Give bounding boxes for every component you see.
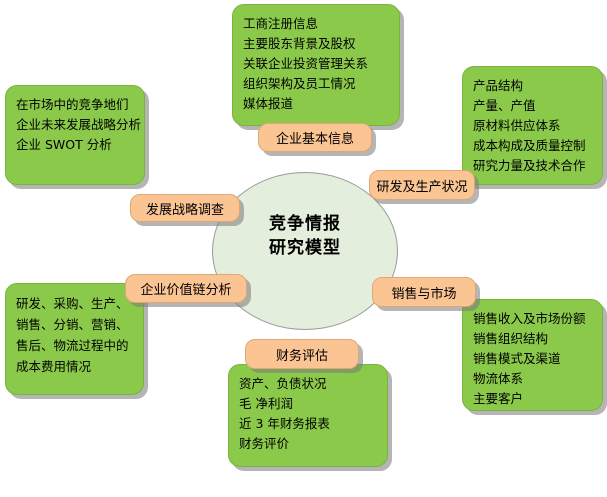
detail-item: 产品结构 — [473, 76, 592, 96]
detail-item: 销售收入及市场份额 — [473, 309, 592, 329]
detail-box-finance: 资产、负债状况 毛 净利润 近 3 年财务报表 财务评价 — [228, 364, 388, 467]
detail-item: 原材料供应体系 — [473, 116, 592, 136]
label-text: 销售与市场 — [391, 283, 456, 302]
detail-item: 在市场中的竞争地们 — [16, 95, 134, 115]
label-text: 研发及生产状况 — [376, 176, 467, 195]
detail-box-sales-market: 销售收入及市场份额 销售组织结构 销售模式及渠道 物流体系 主要客户 — [462, 299, 603, 411]
detail-item: 近 3 年财务报表 — [239, 414, 377, 434]
detail-item: 工商注册信息 — [243, 14, 389, 34]
label-text: 企业基本信息 — [276, 128, 354, 147]
detail-item: 销售模式及渠道 — [473, 349, 592, 369]
label-box-sales-market[interactable]: 销售与市场 — [372, 277, 476, 307]
detail-box-rd-production: 产品结构 产量、产值 原材料供应体系 成本构成及质量控制 研究力量及技术合作 — [462, 66, 603, 185]
detail-item: 物流体系 — [473, 369, 592, 389]
detail-item: 媒体报道 — [243, 94, 389, 114]
detail-item: 关联企业投资管理关系 — [243, 54, 389, 74]
label-box-rd-production[interactable]: 研发及生产状况 — [369, 170, 475, 200]
label-box-value-chain[interactable]: 企业价值链分析 — [125, 274, 247, 303]
detail-item: 毛 净利润 — [239, 394, 377, 414]
diagram-canvas: 竞争情报 研究模型 工商注册信息 主要股东背景及股权 关联企业投资管理关系 组织… — [0, 0, 607, 497]
detail-item: 研发、采购、生产、销售、分销、营销、售后、物流过程中的成本费用情况 — [16, 293, 133, 377]
detail-item: 成本构成及质量控制 — [473, 136, 592, 156]
detail-item: 销售组织结构 — [473, 329, 592, 349]
label-box-finance[interactable]: 财务评估 — [245, 339, 359, 369]
detail-item: 主要客户 — [473, 389, 592, 409]
detail-item: 主要股东背景及股权 — [243, 34, 389, 54]
label-box-basic-info[interactable]: 企业基本信息 — [258, 123, 372, 152]
label-text: 企业价值链分析 — [140, 279, 231, 298]
detail-item: 财务评价 — [239, 434, 377, 454]
label-text: 财务评估 — [276, 345, 328, 364]
center-title-line1: 竞争情报 — [212, 212, 398, 236]
center-title-line2: 研究模型 — [212, 236, 398, 260]
detail-item: 资产、负债状况 — [239, 374, 377, 394]
detail-item: 研究力量及技术合作 — [473, 156, 592, 176]
detail-box-basic-info: 工商注册信息 主要股东背景及股权 关联企业投资管理关系 组织架构及员工情况 媒体… — [232, 4, 400, 126]
detail-item: 企业 SWOT 分析 — [16, 135, 134, 155]
detail-box-strategy: 在市场中的竞争地们 企业未来发展战略分析 企业 SWOT 分析 — [5, 85, 145, 185]
detail-item: 组织架构及员工情况 — [243, 74, 389, 94]
detail-box-value-chain: 研发、采购、生产、销售、分销、营销、售后、物流过程中的成本费用情况 — [5, 283, 144, 395]
detail-item: 产量、产值 — [473, 96, 592, 116]
detail-item: 企业未来发展战略分析 — [16, 115, 134, 135]
center-title: 竞争情报 研究模型 — [212, 212, 398, 260]
